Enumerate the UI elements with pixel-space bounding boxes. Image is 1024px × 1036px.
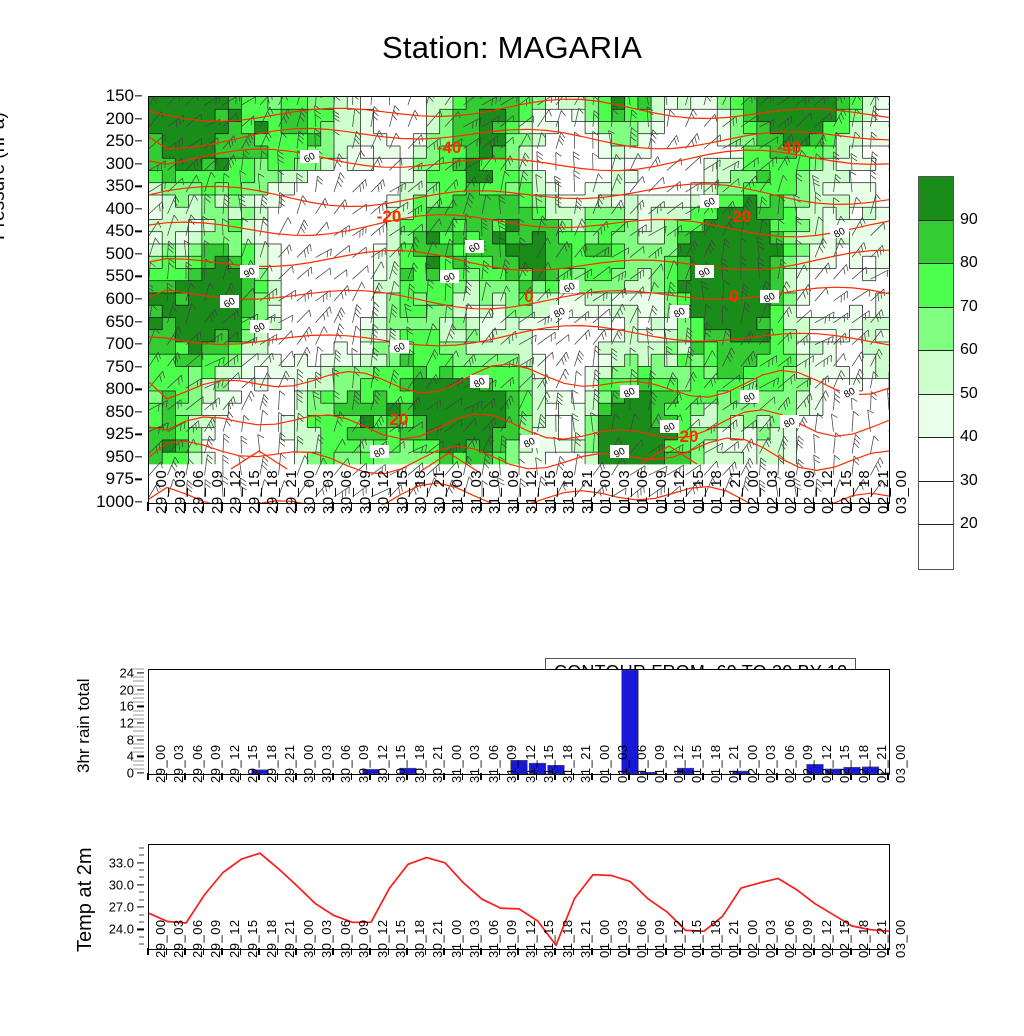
x-axis-label: 01_21	[726, 744, 741, 783]
temp-minor-tick	[139, 944, 144, 945]
temp-line	[149, 853, 889, 945]
colorbar-label: 80	[960, 254, 978, 272]
pressure-tick-mark	[135, 95, 142, 96]
rain-bars-svg	[149, 670, 889, 774]
x-axis-label: 02_00	[745, 470, 762, 514]
colorbar-band	[919, 438, 953, 482]
pressure-tick-mark	[135, 163, 142, 164]
pressure-tick-mark	[135, 366, 142, 367]
x-axis-label: 02_03	[763, 919, 778, 958]
rain-minor-tick	[133, 677, 144, 678]
x-axis-label: 29_15	[245, 744, 260, 783]
pressure-tick-label: 950	[106, 447, 134, 467]
pressure-tick-label: 400	[106, 199, 134, 219]
temp-tick-label: 24.0	[109, 922, 134, 937]
temp-tick-mark	[137, 884, 144, 885]
x-axis-label: 02_09	[800, 744, 815, 783]
xsection-plot-area: -40-40-20-20002020 606060608060608080808…	[148, 96, 890, 504]
pressure-tick-mark	[135, 118, 142, 119]
colorbar-band	[919, 264, 953, 308]
x-axis-label: 03_00	[893, 470, 910, 514]
x-axis-label: 01_03	[616, 470, 633, 514]
temp-tick-label: 27.0	[109, 900, 134, 915]
x-axis-label: 30_21	[430, 744, 445, 783]
humidity-colorbar	[918, 176, 954, 570]
x-axis-label: 01_12	[671, 744, 686, 783]
pressure-tick-mark	[135, 140, 142, 141]
x-axis-label: 31_21	[579, 470, 596, 514]
x-axis-label: 02_12	[819, 744, 834, 783]
temp-minor-tick	[139, 936, 144, 937]
rain-minor-tick	[133, 727, 144, 728]
temp-y-axis-ticks: 24.027.030.033.0	[80, 844, 144, 948]
x-axis-label: 30_18	[412, 919, 427, 958]
colorbar-label: 20	[960, 515, 978, 533]
x-axis-label: 29_00	[153, 919, 168, 958]
pressure-tick-mark	[135, 501, 142, 502]
x-axis-label: 31_21	[578, 744, 593, 783]
x-axis-label: 29_03	[171, 744, 186, 783]
x-axis-label: 31_15	[541, 919, 556, 958]
x-axis-label: 01_18	[708, 919, 723, 958]
x-axis-label: 01_06	[634, 919, 649, 958]
pressure-tick-label: 925	[106, 424, 134, 444]
x-axis-label: 29_09	[209, 470, 226, 514]
x-axis-label: 29_06	[190, 470, 207, 514]
x-axis-label: 01_00	[597, 919, 612, 958]
colorbar-band	[919, 221, 953, 265]
pressure-tick-label: 350	[106, 176, 134, 196]
rain-minor-tick	[133, 768, 144, 769]
rain-tick-mark	[137, 756, 144, 757]
pressure-tick-label: 975	[106, 469, 134, 489]
x-axis-label: 31_03	[467, 744, 482, 783]
rain-minor-tick	[133, 698, 144, 699]
x-axis-label: 31_06	[486, 744, 501, 783]
temp-tick-label: 33.0	[109, 855, 134, 870]
x-axis-label: 02_00	[745, 919, 760, 958]
x-axis-label: 01_15	[689, 744, 704, 783]
pressure-tick-mark	[135, 456, 142, 457]
x-axis-label: 01_12	[671, 919, 686, 958]
colorbar-band	[919, 482, 953, 526]
x-axis-label: 30_12	[375, 470, 392, 514]
temp-minor-tick	[139, 877, 144, 878]
x-axis-label: 29_09	[208, 744, 223, 783]
x-axis-label: 02_21	[874, 744, 889, 783]
x-axis-label: 29_21	[282, 744, 297, 783]
x-axis-label: 29_00	[153, 744, 168, 783]
x-axis-label: 31_12	[523, 919, 538, 958]
pressure-tick-label: 150	[106, 86, 134, 106]
temp-tick-mark	[137, 862, 144, 863]
pressure-tick-mark	[135, 434, 142, 435]
xsection-x-axis-labels: 29_0029_0329_0629_0929_1229_1529_1829_21…	[148, 512, 888, 598]
colorbar-label: 50	[960, 385, 978, 403]
x-axis-label: 02_06	[782, 919, 797, 958]
pressure-tick-label: 300	[106, 154, 134, 174]
temp-minor-tick	[139, 855, 144, 856]
rain-y-axis-label: 3hr rain total	[74, 679, 94, 774]
x-axis-label: 30_06	[338, 744, 353, 783]
x-axis-label: 31_15	[542, 470, 559, 514]
pressure-tick-mark	[135, 298, 142, 299]
x-axis-label: 30_15	[393, 744, 408, 783]
x-axis-label: 31_18	[560, 470, 577, 514]
x-axis-label: 30_18	[412, 470, 429, 514]
rain-minor-tick	[133, 710, 144, 711]
x-axis-label: 30_15	[394, 470, 411, 514]
x-axis-label: 31_15	[541, 744, 556, 783]
temp-minor-tick	[139, 870, 144, 871]
humidity-colorbar-labels: 9080706050403020	[956, 176, 1022, 568]
x-axis-label: 29_21	[283, 470, 300, 514]
x-axis-label: 29_06	[190, 919, 205, 958]
x-axis-label: 01_09	[652, 919, 667, 958]
pressure-tick-mark	[135, 276, 142, 277]
x-axis-label: 30_00	[301, 744, 316, 783]
rain-minor-tick	[133, 693, 144, 694]
temp-x-axis-labels: 29_0029_0329_0629_0929_1229_1529_1829_21…	[148, 956, 888, 1036]
pressure-tick-label: 800	[106, 379, 134, 399]
x-axis-label: 31_12	[523, 470, 540, 514]
x-axis-label: 01_12	[671, 470, 688, 514]
rain-minor-tick	[133, 681, 144, 682]
colorbar-label: 30	[960, 472, 978, 490]
pressure-tick-mark	[135, 231, 142, 232]
temp-minor-tick	[139, 899, 144, 900]
x-axis-tick	[147, 948, 148, 955]
rain-panel: 3hr rain total 04812162024 29_0029_0329_…	[0, 655, 1024, 830]
rain-tick-mark	[137, 772, 144, 773]
x-axis-label: 30_00	[301, 470, 318, 514]
pressure-tick-mark	[135, 411, 142, 412]
x-axis-label: 29_00	[153, 470, 170, 514]
x-axis-label: 01_18	[708, 744, 723, 783]
rain-tick-mark	[137, 722, 144, 723]
rain-tick-mark	[137, 739, 144, 740]
x-axis-label: 30_18	[412, 744, 427, 783]
pressure-tick-mark	[135, 208, 142, 209]
x-axis-label: 02_06	[782, 744, 797, 783]
x-axis-label: 02_03	[763, 744, 778, 783]
x-axis-label: 31_03	[467, 919, 482, 958]
x-axis-label: 31_00	[449, 470, 466, 514]
rain-minor-tick	[133, 760, 144, 761]
x-axis-label: 30_00	[301, 919, 316, 958]
colorbar-band	[919, 177, 953, 221]
rain-tick-mark	[137, 706, 144, 707]
pressure-tick-mark	[135, 253, 142, 254]
rain-minor-tick	[133, 702, 144, 703]
rain-tick-label: 24	[120, 666, 134, 681]
x-axis-label: 29_09	[208, 919, 223, 958]
xsection-y-axis-ticks: 1502002503003504004505005506006507007508…	[62, 96, 142, 502]
temp-minor-tick	[139, 914, 144, 915]
temp-tick-label: 30.0	[109, 877, 134, 892]
x-axis-label: 30_09	[356, 744, 371, 783]
rain-minor-tick	[133, 743, 144, 744]
rain-minor-tick	[133, 752, 144, 753]
x-axis-label: 30_09	[356, 919, 371, 958]
x-axis-label: 02_09	[800, 919, 815, 958]
pressure-tick-label: 450	[106, 221, 134, 241]
x-axis-tick	[147, 502, 148, 511]
x-axis-label: 31_09	[504, 744, 519, 783]
rain-minor-tick	[133, 748, 144, 749]
x-axis-label: 30_03	[319, 919, 334, 958]
rain-tick-mark	[137, 673, 144, 674]
x-axis-label: 29_18	[264, 919, 279, 958]
x-axis-label: 31_21	[578, 919, 593, 958]
x-axis-label: 01_00	[597, 470, 614, 514]
xsection-contour-svg: -40-40-20-20002020 606060608060608080808…	[149, 97, 889, 503]
x-axis-label: 29_03	[171, 919, 186, 958]
temp-minor-tick	[139, 847, 144, 848]
x-axis-label: 01_03	[615, 919, 630, 958]
colorbar-band	[919, 395, 953, 439]
x-axis-label: 30_21	[431, 470, 448, 514]
colorbar-label: 90	[960, 211, 978, 229]
temp-tick-mark	[137, 929, 144, 930]
x-axis-label: 02_09	[801, 470, 818, 514]
colorbar-label: 70	[960, 298, 978, 316]
x-axis-label: 31_00	[449, 919, 464, 958]
colorbar-label: 40	[960, 428, 978, 446]
x-axis-label: 02_12	[819, 470, 836, 514]
x-axis-label: 31_00	[449, 744, 464, 783]
x-axis-label: 31_12	[523, 744, 538, 783]
pressure-tick-label: 500	[106, 244, 134, 264]
temp-panel: Temp at 2m 24.027.030.033.0 29_0029_0329…	[0, 838, 1024, 1024]
x-axis-label: 31_06	[486, 470, 503, 514]
colorbar-band	[919, 351, 953, 395]
pressure-tick-mark	[135, 186, 142, 187]
x-axis-label: 29_12	[227, 470, 244, 514]
rain-minor-tick	[133, 731, 144, 732]
pressure-tick-mark	[135, 343, 142, 344]
x-axis-label: 02_15	[838, 470, 855, 514]
rain-minor-tick	[133, 718, 144, 719]
rain-minor-tick	[133, 669, 144, 670]
rain-tick-mark	[137, 689, 144, 690]
x-axis-label: 01_06	[634, 744, 649, 783]
x-axis-label: 01_21	[727, 470, 744, 514]
x-axis-label: 02_03	[764, 470, 781, 514]
pressure-tick-mark	[135, 479, 142, 480]
x-axis-label: 02_00	[745, 744, 760, 783]
x-axis-label: 30_03	[319, 744, 334, 783]
x-axis-label: 03_00	[893, 919, 908, 958]
pressure-tick-label: 550	[106, 266, 134, 286]
x-axis-label: 02_21	[875, 470, 892, 514]
pressure-tick-mark	[135, 389, 142, 390]
x-axis-label: 02_18	[856, 744, 871, 783]
rain-tick-label: 16	[120, 699, 134, 714]
temp-tick-mark	[137, 907, 144, 908]
x-axis-label: 02_21	[874, 919, 889, 958]
x-axis-label: 01_06	[634, 470, 651, 514]
rain-minor-tick	[133, 764, 144, 765]
x-axis-label: 30_06	[338, 919, 353, 958]
x-axis-label: 30_09	[357, 470, 374, 514]
x-axis-label: 01_15	[689, 919, 704, 958]
x-axis-tick	[147, 773, 148, 780]
rain-y-axis-ticks: 04812162024	[92, 669, 144, 773]
pressure-tick-label: 250	[106, 131, 134, 151]
x-axis-label: 02_15	[837, 744, 852, 783]
pressure-tick-label: 1000	[96, 492, 134, 512]
temp-line-svg	[149, 845, 889, 949]
pressure-tick-label: 850	[106, 402, 134, 422]
x-axis-label: 29_03	[172, 470, 189, 514]
x-axis-label: 31_09	[505, 470, 522, 514]
x-axis-label: 01_03	[615, 744, 630, 783]
pressure-tick-label: 600	[106, 289, 134, 309]
pressure-tick-label: 700	[106, 334, 134, 354]
rain-tick-label: 20	[120, 682, 134, 697]
x-axis-label: 29_21	[282, 919, 297, 958]
x-axis-label: 02_15	[837, 919, 852, 958]
pressure-tick-label: 200	[106, 109, 134, 129]
x-axis-label: 01_09	[653, 470, 670, 514]
xsection-y-axis-label: Pressure (hPa)	[0, 112, 10, 240]
page-title: Station: MAGARIA	[0, 30, 1024, 66]
x-axis-label: 31_03	[468, 470, 485, 514]
x-axis-label: 01_21	[726, 919, 741, 958]
rain-minor-tick	[133, 714, 144, 715]
x-axis-label: 02_12	[819, 919, 834, 958]
pressure-tick-label: 650	[106, 312, 134, 332]
colorbar-band	[919, 525, 953, 569]
x-axis-label: 01_00	[597, 744, 612, 783]
x-axis-label: 02_18	[856, 919, 871, 958]
x-axis-label: 30_15	[393, 919, 408, 958]
x-axis-label: 01_15	[690, 470, 707, 514]
x-axis-label: 31_18	[560, 919, 575, 958]
temp-minor-tick	[139, 922, 144, 923]
x-axis-label: 29_15	[246, 470, 263, 514]
x-axis-label: 29_06	[190, 744, 205, 783]
x-axis-label: 30_06	[338, 470, 355, 514]
x-axis-label: 30_12	[375, 919, 390, 958]
temp-minor-tick	[139, 892, 144, 893]
x-axis-label: 31_09	[504, 919, 519, 958]
x-axis-label: 29_12	[227, 919, 242, 958]
x-axis-label: 01_18	[708, 470, 725, 514]
pressure-tick-label: 750	[106, 357, 134, 377]
rain-tick-label: 12	[120, 716, 134, 731]
x-axis-label: 02_18	[856, 470, 873, 514]
x-axis-label: 02_06	[782, 470, 799, 514]
colorbar-band	[919, 308, 953, 352]
x-axis-label: 30_21	[430, 919, 445, 958]
pressure-tick-mark	[135, 321, 142, 322]
x-axis-label: 29_12	[227, 744, 242, 783]
x-axis-label: 30_12	[375, 744, 390, 783]
rain-minor-tick	[133, 735, 144, 736]
x-axis-label: 01_09	[652, 744, 667, 783]
x-axis-label: 30_03	[320, 470, 337, 514]
x-axis-label: 31_06	[486, 919, 501, 958]
x-axis-label: 03_00	[893, 744, 908, 783]
x-axis-label: 29_18	[264, 744, 279, 783]
cross-section-panel: Pressure (hPa) 1502002503003504004505005…	[0, 80, 1024, 620]
x-axis-label: 29_18	[264, 470, 281, 514]
colorbar-label: 60	[960, 341, 978, 359]
rain-minor-tick	[133, 685, 144, 686]
x-axis-label: 31_18	[560, 744, 575, 783]
x-axis-label: 29_15	[245, 919, 260, 958]
